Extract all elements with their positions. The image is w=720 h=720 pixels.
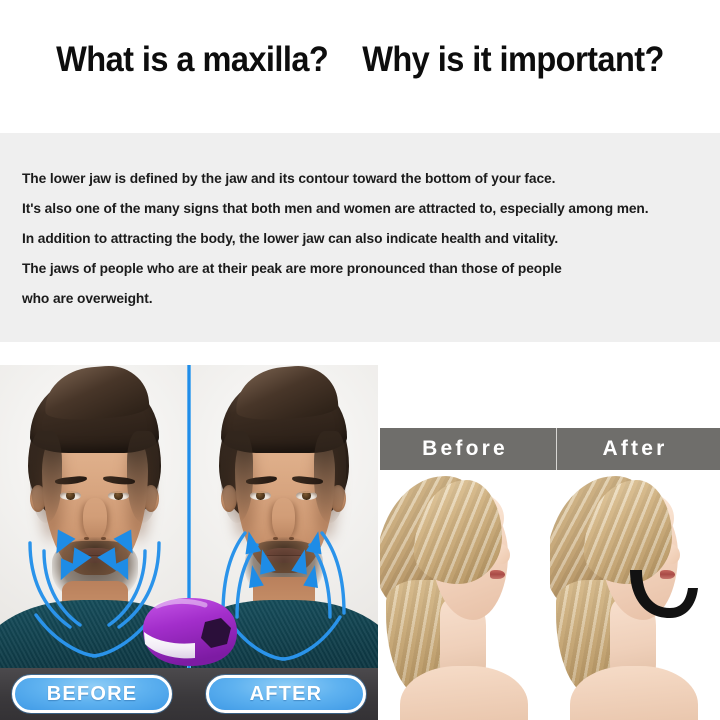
comparison-photos-section: Before After [0, 365, 720, 720]
description-line-5: who are overweight. [22, 284, 691, 314]
before-label: Before [422, 437, 508, 461]
header-section: What is a maxilla? Why is it important? [0, 0, 720, 133]
before-badge-label: BEFORE [47, 683, 138, 706]
before-after-header-bar: Before After [380, 428, 720, 470]
jaw-exerciser-device [133, 596, 246, 668]
page-title: What is a maxilla? Why is it important? [25, 40, 695, 80]
description-text: The lower jaw is defined by the jaw and … [22, 164, 712, 314]
description-line-4: The jaws of people who are at their peak… [22, 254, 691, 284]
after-label: After [602, 437, 667, 461]
before-badge: BEFORE [12, 675, 172, 713]
before-header-cell: Before [380, 428, 550, 470]
after-badge-label: AFTER [250, 683, 323, 706]
description-section: The lower jaw is defined by the jaw and … [0, 133, 720, 342]
header-divider [556, 428, 557, 470]
description-line-3: In addition to attracting the body, the … [22, 224, 691, 254]
jawline-highlight-icon [626, 566, 704, 632]
after-badge: AFTER [206, 675, 366, 713]
female-after-photo [550, 470, 720, 720]
female-comparison-panel: Before After [380, 365, 720, 720]
description-line-2: It's also one of the many signs that bot… [22, 194, 691, 224]
section-spacer [0, 342, 720, 365]
before-after-badge-bar: BEFORE AFTER [0, 668, 378, 720]
lips [490, 570, 505, 579]
description-line-1: The lower jaw is defined by the jaw and … [22, 164, 691, 194]
after-header-cell: After [550, 428, 720, 470]
female-before-photo [380, 470, 550, 720]
